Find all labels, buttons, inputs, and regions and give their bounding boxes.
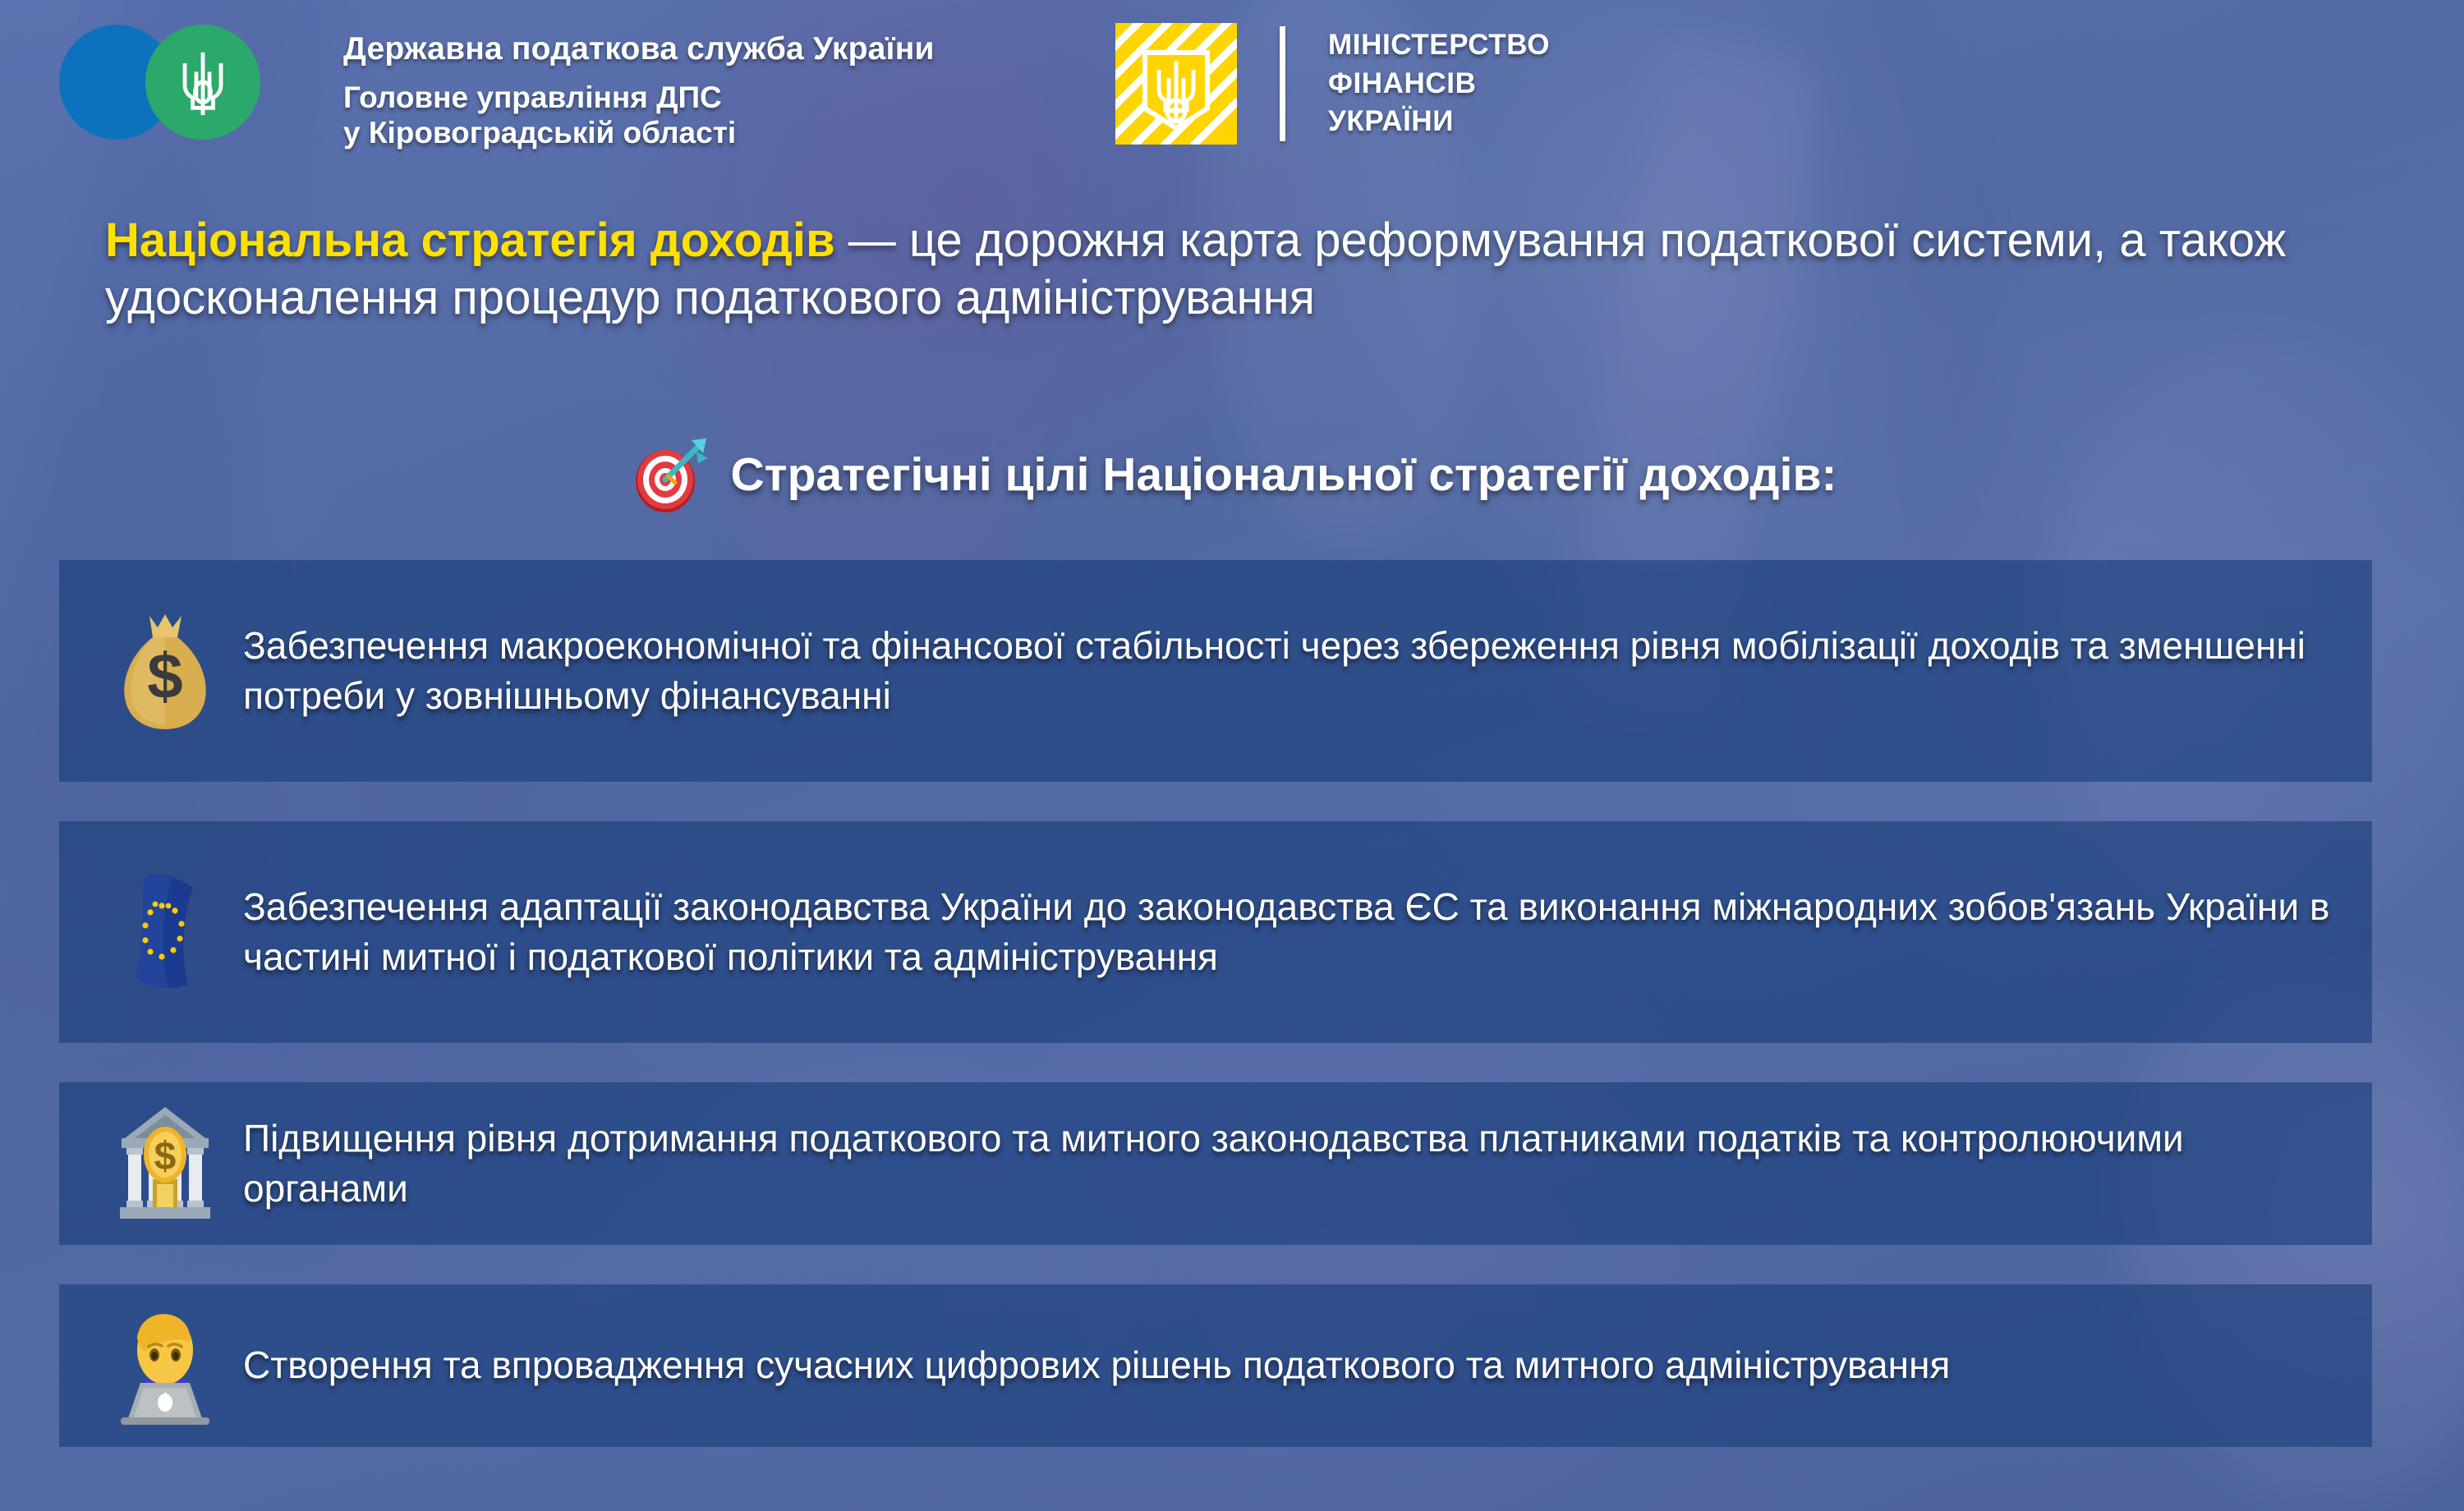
header: Державна податкова служба України Головн… xyxy=(0,0,2464,189)
goals-heading-text: Стратегічні цілі Національної стратегії … xyxy=(731,448,1837,502)
goal-card-3: $ Підвищення рівня дотримання податковог… xyxy=(59,1082,2372,1245)
svg-text:$: $ xyxy=(147,640,182,712)
goals-heading: Стратегічні цілі Національної стратегії … xyxy=(0,434,2464,516)
goal-card-4-text: Створення та впровадження сучасних цифро… xyxy=(243,1332,1950,1398)
dps-title-block: Державна податкова служба України Головн… xyxy=(343,33,935,150)
mof-line2: ФІНАНСІВ xyxy=(1328,65,1550,103)
goal-card-1: $ Забезпечення макроекономічної та фінан… xyxy=(59,560,2372,782)
logo-divider xyxy=(1280,26,1285,141)
money-bag-icon: $ xyxy=(87,609,243,733)
mof-line3: УКРАЇНИ xyxy=(1328,103,1550,141)
dps-title-line1: Державна податкова служба України xyxy=(343,33,935,65)
goal-card-2: Забезпечення адаптації законодавства Укр… xyxy=(59,821,2372,1043)
goal-card-3-text: Підвищення рівня дотримання податкового … xyxy=(243,1105,2344,1222)
goal-card-2-text: Забезпечення адаптації законодавства Укр… xyxy=(243,874,2344,990)
ministry-of-finance-title: МІНІСТЕРСТВО ФІНАНСІВ УКРАЇНИ xyxy=(1328,26,1550,141)
goal-card-1-text: Забезпечення макроекономічної та фінансо… xyxy=(243,613,2344,729)
ministry-of-finance-logo: МІНІСТЕРСТВО ФІНАНСІВ УКРАЇНИ xyxy=(1115,23,1550,145)
ministry-of-finance-shield-icon xyxy=(1115,23,1237,145)
bank-building-icon: $ xyxy=(87,1104,243,1224)
intro-paragraph: Національна стратегія доходів — це дорож… xyxy=(105,212,2372,326)
dps-title-line3: у Кіровоградській області xyxy=(343,116,935,151)
mof-line1: МІНІСТЕРСТВО xyxy=(1328,26,1550,65)
person-with-laptop-icon xyxy=(87,1304,243,1427)
goals-list: $ Забезпечення макроекономічної та фінан… xyxy=(59,560,2372,1486)
dps-title-line2: Головне управління ДПС xyxy=(343,80,935,116)
dps-logo xyxy=(59,25,330,140)
svg-text:$: $ xyxy=(154,1135,177,1178)
european-union-flag-icon xyxy=(87,866,243,998)
dart-target-icon xyxy=(627,434,710,516)
intro-highlight: Національна стратегія доходів xyxy=(105,214,835,267)
goal-card-4: Створення та впровадження сучасних цифро… xyxy=(59,1284,2372,1447)
trident-icon xyxy=(167,48,239,120)
